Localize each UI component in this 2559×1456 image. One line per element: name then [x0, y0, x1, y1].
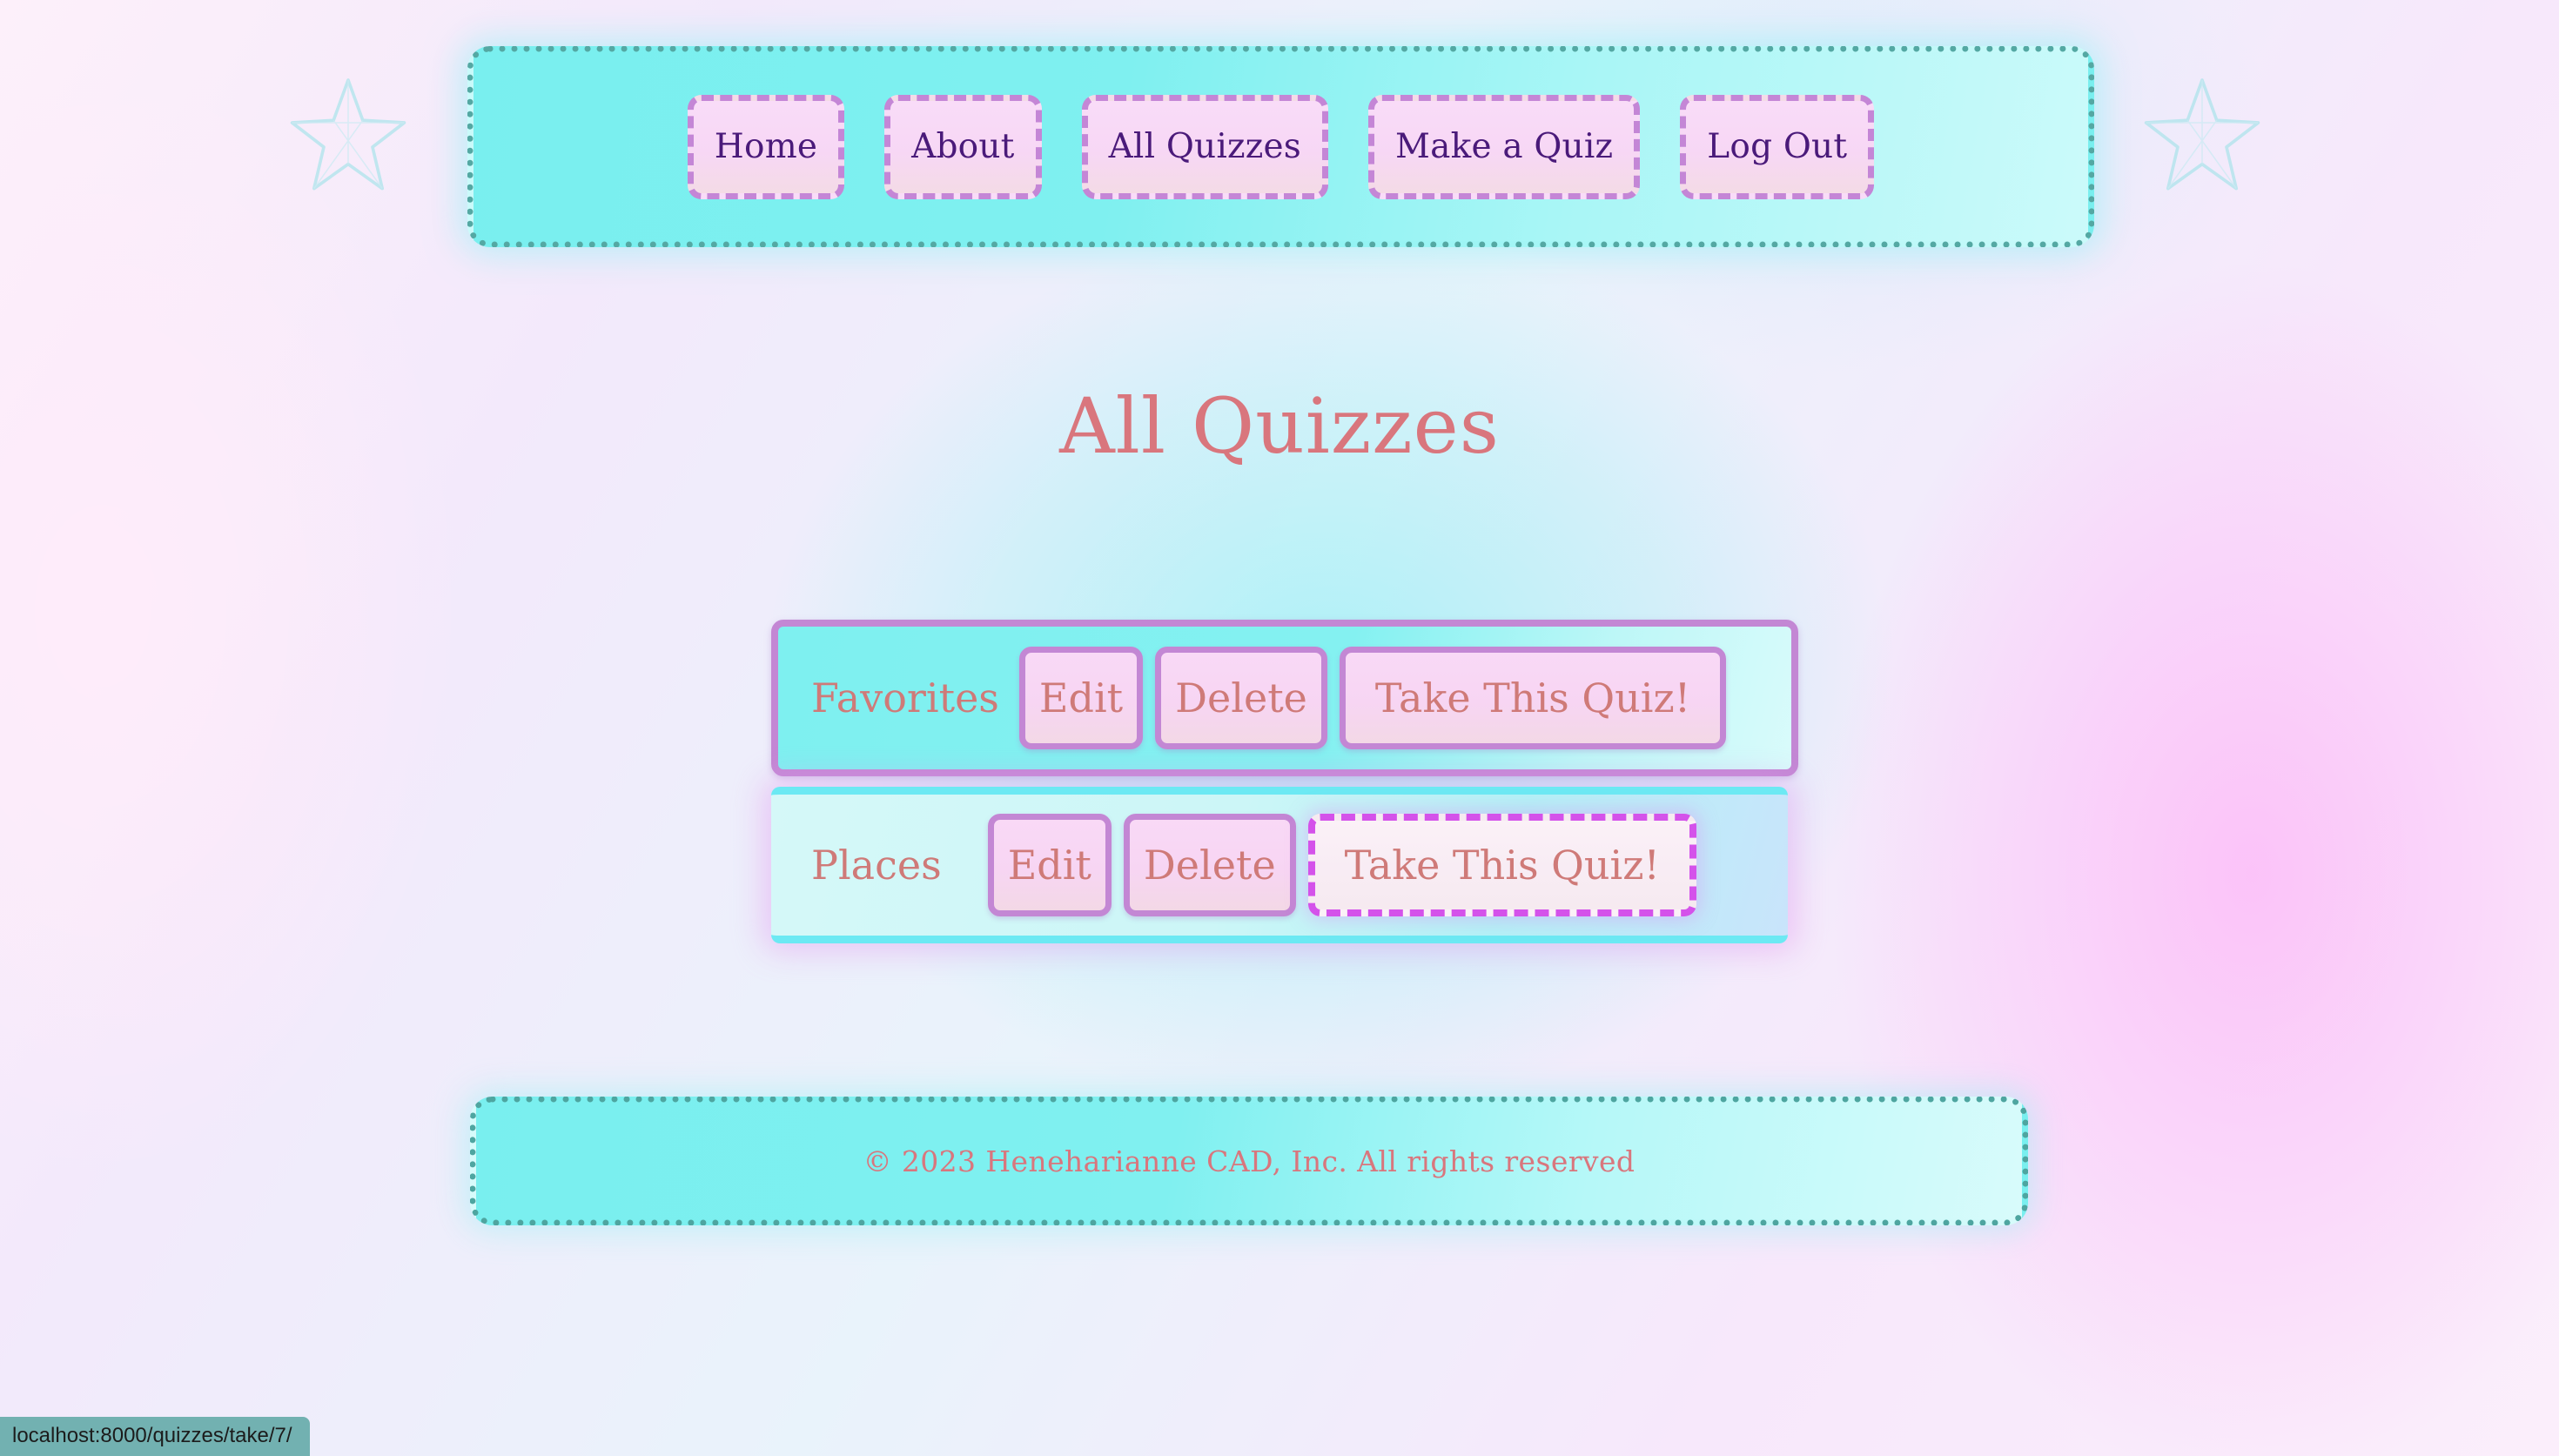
edit-button[interactable]: Edit [1019, 647, 1143, 749]
take-quiz-button[interactable]: Take This Quiz! [1308, 814, 1696, 916]
nav-item-about[interactable]: About [884, 95, 1041, 199]
nav-item-make-a-quiz[interactable]: Make a Quiz [1368, 95, 1640, 199]
page-title: All Quizzes [0, 381, 2559, 471]
nav-item-all-quizzes[interactable]: All Quizzes [1082, 95, 1328, 199]
delete-button[interactable]: Delete [1124, 814, 1296, 916]
quiz-list: Favorites Edit Delete Take This Quiz! Pl… [771, 620, 1798, 943]
main-navigation: Home About All Quizzes Make a Quiz Log O… [467, 46, 2094, 247]
star-decoration-left [283, 74, 413, 196]
page-footer: © 2023 Heneharianne CAD, Inc. All rights… [470, 1097, 2028, 1225]
edit-button[interactable]: Edit [988, 814, 1112, 916]
nav-item-log-out[interactable]: Log Out [1680, 95, 1874, 199]
nav-item-home[interactable]: Home [688, 95, 844, 199]
quiz-name: Places [782, 842, 982, 889]
delete-button[interactable]: Delete [1155, 647, 1327, 749]
star-decoration-right [2137, 74, 2267, 196]
take-quiz-button[interactable]: Take This Quiz! [1340, 647, 1726, 749]
browser-status-bar: localhost:8000/quizzes/take/7/ [0, 1417, 310, 1456]
quiz-row-places[interactable]: Places Edit Delete Take This Quiz! [771, 787, 1788, 943]
quiz-row-favorites[interactable]: Favorites Edit Delete Take This Quiz! [771, 620, 1798, 776]
copyright-text: © 2023 Heneharianne CAD, Inc. All rights… [863, 1144, 1635, 1178]
quiz-name: Favorites [789, 674, 1013, 721]
